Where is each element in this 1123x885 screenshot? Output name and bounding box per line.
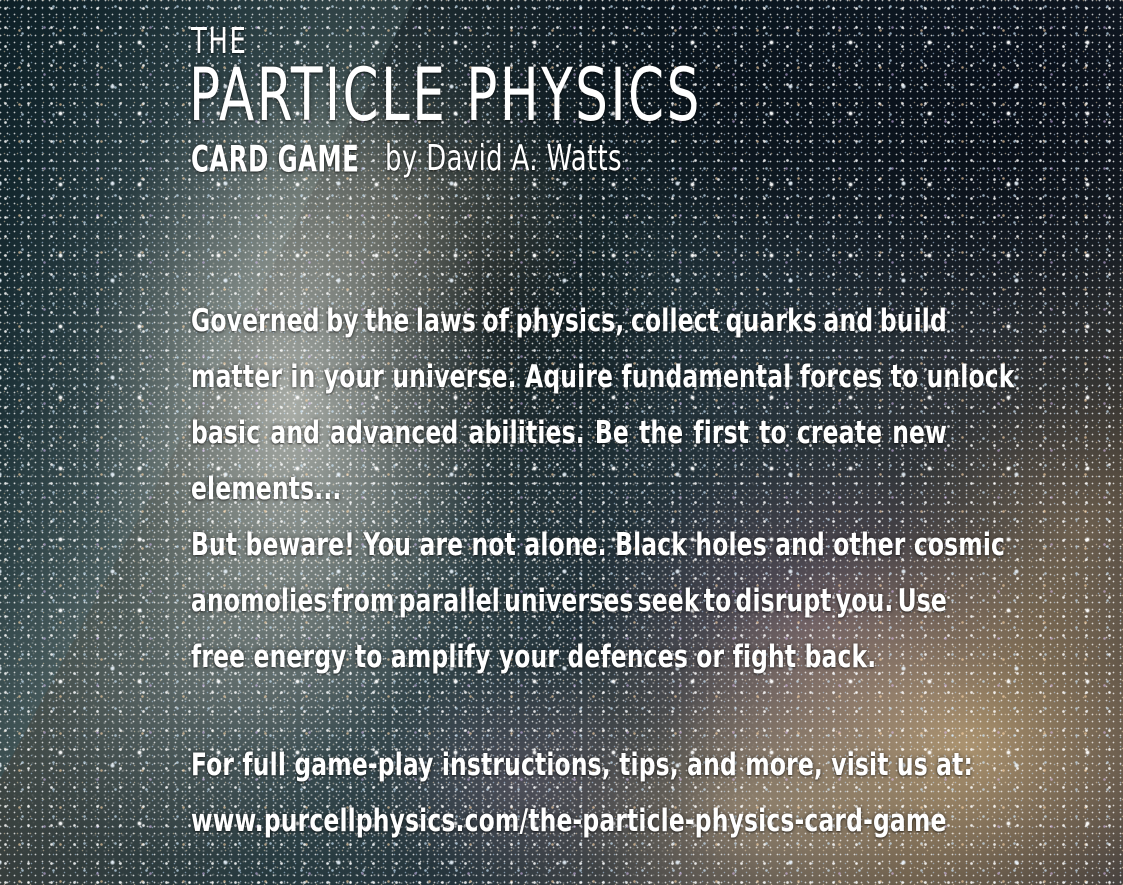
body-word: laws <box>416 293 476 349</box>
body-line: But beware! You are not alone. Black hol… <box>191 517 829 573</box>
card-content: THE PARTICLE PHYSICS CARD GAME by David … <box>0 0 1123 885</box>
body-word: create <box>797 405 882 461</box>
body-word: by <box>326 293 358 349</box>
body-word: of <box>483 293 510 349</box>
body-word: physics, <box>516 293 625 349</box>
body-line: Governed by the laws of physics, collect… <box>191 293 947 349</box>
description-paragraph-2: But beware! You are not alone. Black hol… <box>191 517 951 685</box>
body-word: and <box>270 405 320 461</box>
body-line: elements... <box>191 461 829 517</box>
body-word: collect <box>631 293 719 349</box>
game-card-back: THE PARTICLE PHYSICS CARD GAME by David … <box>0 0 1123 885</box>
body-word: you. <box>836 573 894 629</box>
body-line: matter in your universe. Aquire fundamen… <box>191 349 829 405</box>
body-word: universes <box>504 573 633 629</box>
title-subtitle: CARD GAME <box>191 142 359 178</box>
body-word: Governed <box>191 293 320 349</box>
body-line: free energy to amplify your defences or … <box>191 629 829 685</box>
body-word: build <box>880 293 947 349</box>
body-word: Be <box>595 405 629 461</box>
body-word: and <box>824 293 874 349</box>
body-word: basic <box>191 405 260 461</box>
body-word: anomolies <box>191 573 328 629</box>
body-word: to <box>759 405 787 461</box>
body-word: parallel <box>399 573 500 629</box>
footer-block: For full game-play instructions, tips, a… <box>191 737 1122 849</box>
body-word: Use <box>898 573 947 629</box>
body-word: first <box>693 405 749 461</box>
body-word: from <box>332 573 395 629</box>
body-line: anomolies from parallel universes seek t… <box>191 573 947 629</box>
body-word: disrupt <box>736 573 832 629</box>
body-word: to <box>704 573 732 629</box>
body-word: the <box>365 293 409 349</box>
body-word: seek <box>638 573 700 629</box>
body-line: basic and advanced abilities. Be the fir… <box>191 405 947 461</box>
body-word: abilities. <box>468 405 584 461</box>
page-title: PARTICLE PHYSICS <box>189 58 702 132</box>
website-url[interactable]: www.purcellphysics.com/the-particle-phys… <box>191 793 973 849</box>
body-word: advanced <box>330 405 458 461</box>
body-word: new <box>892 405 947 461</box>
author-byline: by David A. Watts <box>385 141 622 177</box>
body-word: the <box>639 405 683 461</box>
footer-call-to-action: For full game-play instructions, tips, a… <box>191 737 973 793</box>
body-word: quarks <box>726 293 817 349</box>
description-paragraph-1: Governed by the laws of physics, collect… <box>191 293 951 517</box>
